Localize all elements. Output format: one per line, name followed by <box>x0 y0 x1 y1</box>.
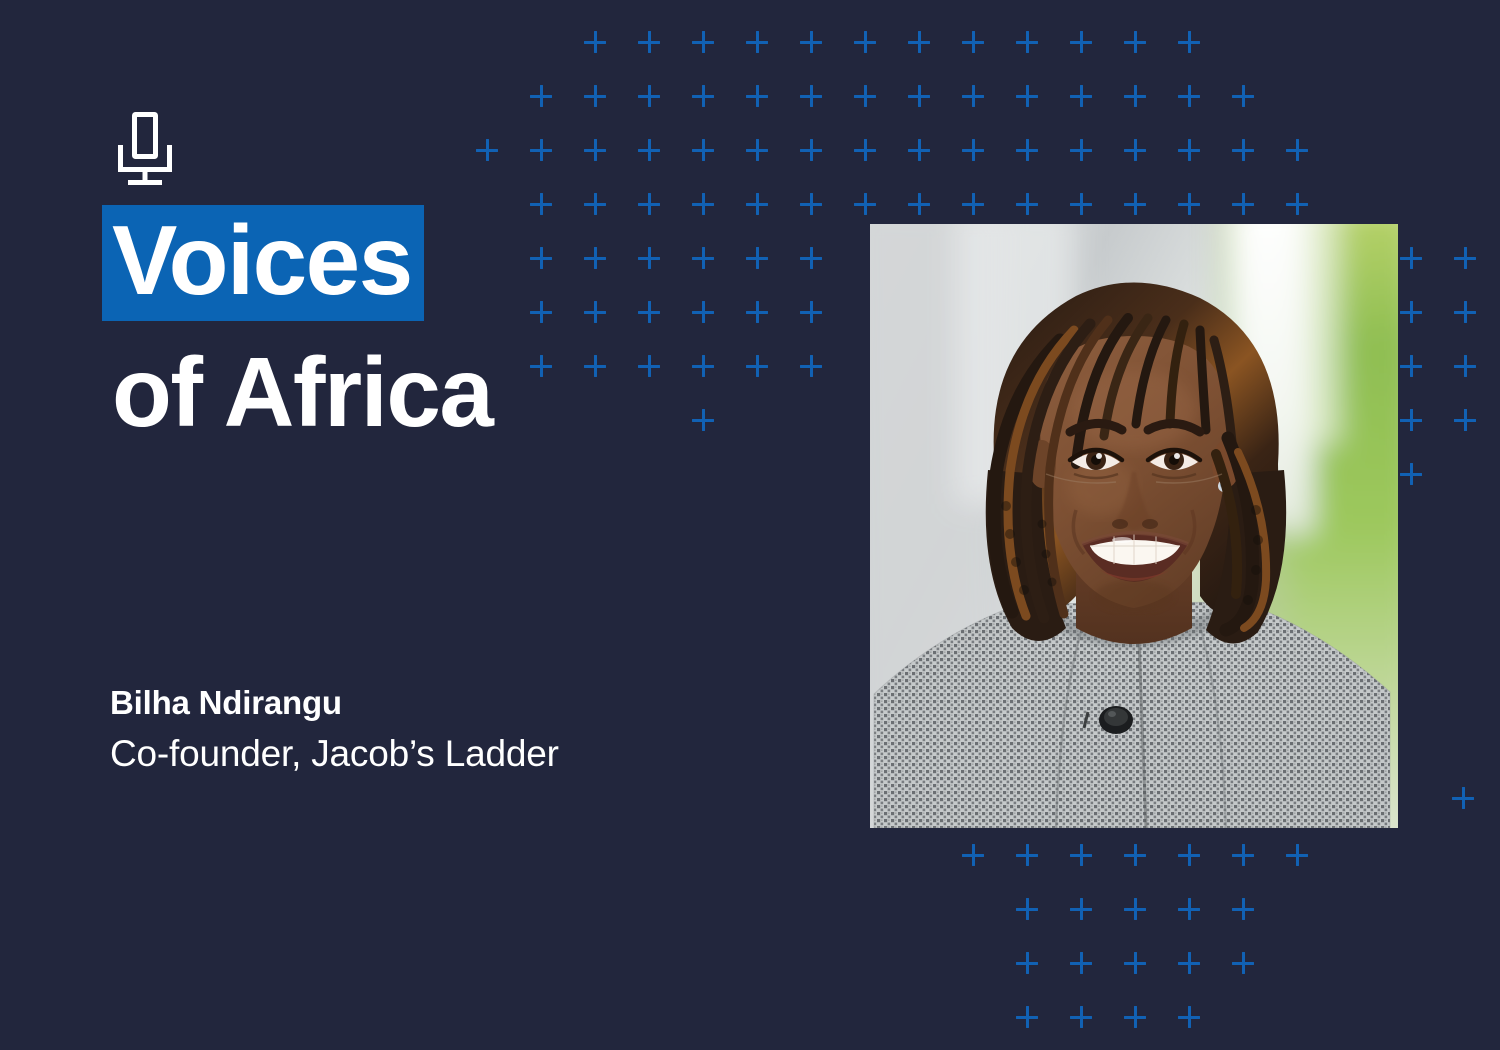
plus-marker <box>800 139 822 161</box>
plus-marker <box>1178 898 1200 920</box>
plus-marker <box>1124 193 1146 215</box>
plus-marker <box>908 31 930 53</box>
plus-marker <box>854 31 876 53</box>
plus-marker <box>962 85 984 107</box>
plus-marker <box>1400 409 1422 431</box>
plus-marker <box>1454 355 1476 377</box>
microphone-icon <box>112 112 178 190</box>
plus-marker <box>1400 247 1422 269</box>
plus-marker <box>1232 844 1254 866</box>
plus-marker <box>854 139 876 161</box>
plus-marker <box>638 31 660 53</box>
plus-marker <box>746 31 768 53</box>
plus-marker <box>1124 898 1146 920</box>
plus-marker <box>692 139 714 161</box>
plus-marker <box>908 193 930 215</box>
plus-marker <box>1016 139 1038 161</box>
plus-marker <box>1286 844 1308 866</box>
plus-marker <box>1070 844 1092 866</box>
plus-marker <box>1178 139 1200 161</box>
plus-marker <box>1124 952 1146 974</box>
plus-marker <box>1178 31 1200 53</box>
plus-marker <box>1124 31 1146 53</box>
plus-marker <box>1286 193 1308 215</box>
plus-marker <box>1232 952 1254 974</box>
speaker-name: Bilha Ndirangu <box>110 682 830 723</box>
plus-marker <box>1400 301 1422 323</box>
plus-marker <box>530 85 552 107</box>
plus-marker <box>1124 139 1146 161</box>
plus-marker <box>1070 139 1092 161</box>
plus-marker <box>1454 301 1476 323</box>
plus-marker <box>1178 193 1200 215</box>
plus-marker <box>584 85 606 107</box>
plus-marker <box>1016 898 1038 920</box>
speaker-role: Co-founder, Jacob’s Ladder <box>110 731 830 777</box>
headline: Voices of Africa <box>112 205 812 451</box>
plus-marker <box>584 139 606 161</box>
plus-marker <box>692 85 714 107</box>
plus-marker <box>800 31 822 53</box>
plus-marker <box>1178 952 1200 974</box>
plus-marker <box>1178 1006 1200 1028</box>
plus-marker <box>1400 409 1422 431</box>
plus-marker <box>746 139 768 161</box>
plus-marker <box>962 31 984 53</box>
podcast-title-card: Voices of Africa Bilha Ndirangu Co-found… <box>0 0 1500 1050</box>
plus-marker <box>1070 193 1092 215</box>
plus-marker <box>1124 1006 1146 1028</box>
plus-marker <box>908 139 930 161</box>
plus-marker <box>1016 952 1038 974</box>
plus-marker <box>1400 463 1422 485</box>
plus-marker <box>1016 85 1038 107</box>
speaker-credit: Bilha Ndirangu Co-founder, Jacob’s Ladde… <box>110 682 830 778</box>
plus-marker <box>1016 1006 1038 1028</box>
plus-marker <box>1070 31 1092 53</box>
plus-marker <box>854 85 876 107</box>
plus-marker <box>962 193 984 215</box>
plus-marker <box>692 31 714 53</box>
plus-marker <box>1286 139 1308 161</box>
plus-marker <box>962 844 984 866</box>
plus-marker <box>1232 193 1254 215</box>
plus-marker <box>1070 898 1092 920</box>
plus-marker <box>1178 844 1200 866</box>
plus-marker <box>1070 952 1092 974</box>
plus-marker <box>1232 898 1254 920</box>
headline-line-voices: Voices <box>102 205 424 321</box>
plus-marker <box>1232 85 1254 107</box>
plus-marker <box>476 139 498 161</box>
headline-line-of-africa: of Africa <box>112 335 812 451</box>
plus-marker <box>962 139 984 161</box>
plus-marker <box>1124 85 1146 107</box>
plus-marker <box>584 31 606 53</box>
plus-marker <box>1070 1006 1092 1028</box>
plus-marker <box>908 85 930 107</box>
plus-marker <box>746 85 768 107</box>
plus-marker <box>1452 787 1474 809</box>
plus-marker <box>530 139 552 161</box>
plus-marker <box>638 85 660 107</box>
plus-marker <box>1016 31 1038 53</box>
plus-marker <box>1400 355 1422 377</box>
speaker-portrait-photo <box>870 224 1398 828</box>
plus-marker <box>1178 85 1200 107</box>
plus-marker <box>854 193 876 215</box>
plus-marker <box>1454 247 1476 269</box>
plus-marker <box>1232 139 1254 161</box>
plus-marker <box>638 139 660 161</box>
plus-marker <box>1016 844 1038 866</box>
plus-marker <box>1454 409 1476 431</box>
plus-marker <box>1016 193 1038 215</box>
plus-marker <box>800 85 822 107</box>
plus-marker <box>1124 844 1146 866</box>
plus-marker <box>1070 85 1092 107</box>
plus-marker <box>1454 409 1476 431</box>
